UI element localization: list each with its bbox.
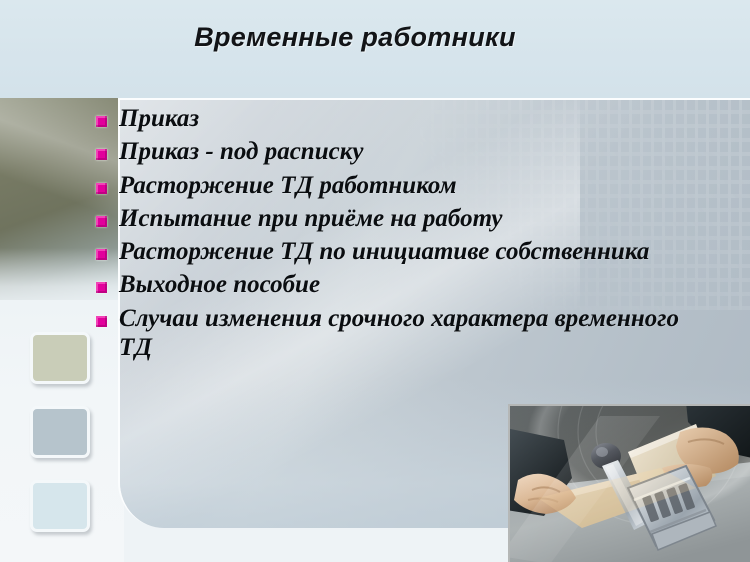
list-item: Случаи изменения срочного характера врем… <box>96 304 696 363</box>
list-item-label: Расторжение ТД по инициативе собственник… <box>119 237 649 266</box>
blue-grey-square <box>30 406 90 458</box>
list-item: Расторжение ТД по инициативе собственник… <box>96 237 696 266</box>
list-item-label: Приказ - под расписку <box>119 137 363 166</box>
square-bullet-icon <box>96 216 107 227</box>
square-bullet-icon <box>96 249 107 260</box>
sage-square <box>30 332 90 384</box>
list-item: Приказ <box>96 104 696 133</box>
list-item-label: Расторжение ТД работником <box>119 171 457 200</box>
pale-blue-square <box>30 480 90 532</box>
list-item: Приказ - под расписку <box>96 137 696 166</box>
list-item-label: Выходное пособие <box>119 270 320 299</box>
date-stamp-photo <box>508 404 750 562</box>
list-item: Испытание при приёме на работу <box>96 204 696 233</box>
list-item-label: Приказ <box>119 104 199 133</box>
list-item: Расторжение ТД работником <box>96 171 696 200</box>
square-bullet-icon <box>96 116 107 127</box>
square-bullet-icon <box>96 183 107 194</box>
date-stamp-illustration <box>510 406 750 562</box>
list-item-label: Случаи изменения срочного характера врем… <box>119 304 696 363</box>
presentation-slide: Временные работники Приказ Приказ - под … <box>0 0 750 562</box>
list-item: Выходное пособие <box>96 270 696 299</box>
bullet-list: Приказ Приказ - под расписку Расторжение… <box>96 104 696 366</box>
page-title: Временные работники <box>0 22 750 53</box>
square-bullet-icon <box>96 149 107 160</box>
title-band: Временные работники <box>0 0 750 98</box>
square-bullet-icon <box>96 316 107 327</box>
list-item-label: Испытание при приёме на работу <box>119 204 503 233</box>
square-bullet-icon <box>96 282 107 293</box>
